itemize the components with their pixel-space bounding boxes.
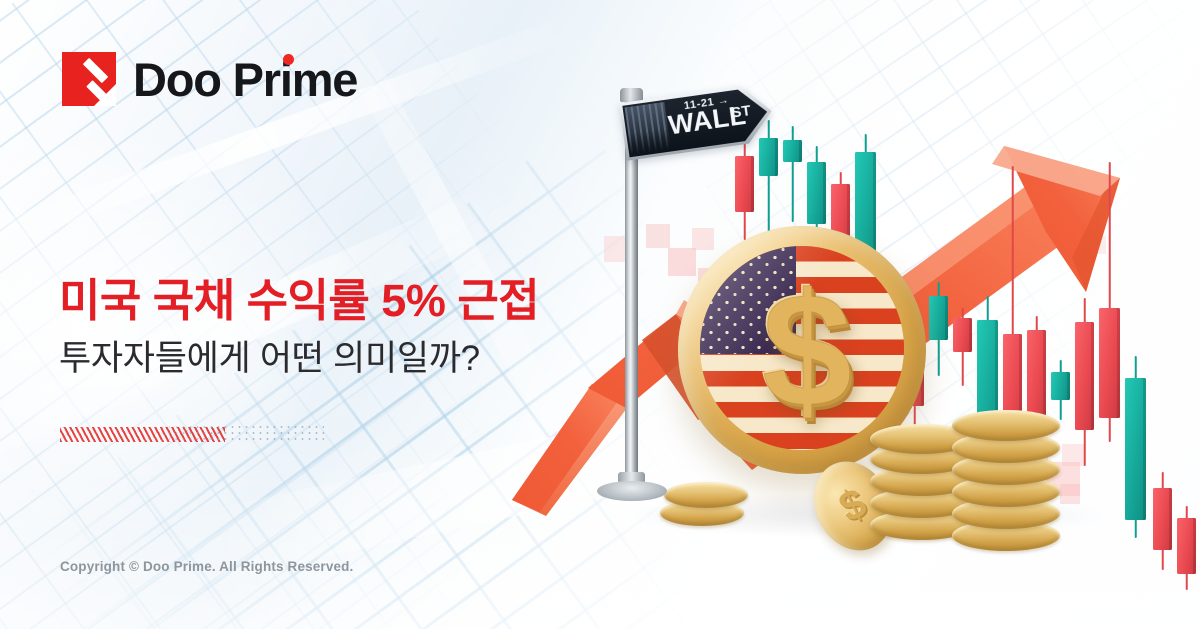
doo-prime-mark-icon [62,52,116,106]
candle [929,282,948,376]
candle [1099,162,1120,442]
candle [783,126,802,222]
candle [1051,360,1070,420]
candle [1153,472,1172,570]
decorative-divider [60,424,322,444]
signpost-base [597,481,667,501]
coin-disc [664,482,748,508]
divider-dots [138,424,324,443]
candle [735,142,754,240]
promo-banner: Doo Prime [0,0,1201,629]
copyright-notice: Copyright © Doo Prime. All Rights Reserv… [60,559,353,574]
sign-building-graphic [625,102,671,155]
headline-secondary: 투자자들에게 어떤 의미일까? [59,338,679,380]
mark-slash-upper [83,58,108,83]
dollar-symbol-icon: $ [762,270,852,432]
brand-logo[interactable]: Doo Prime [62,52,357,106]
candle [1125,356,1146,538]
candle [1075,298,1094,466]
brand-dot-icon [283,54,294,65]
sign-street-suffix: ST [730,102,752,122]
headline-block: 미국 국채 수익률 5% 근접 투자자들에게 어떤 의미일까? [59,276,679,380]
candle [953,308,972,386]
brand-name-text: Doo Prime [133,53,357,106]
brand-name: Doo Prime [133,56,357,103]
candle [1177,506,1196,590]
coin-disc [952,410,1060,441]
headline-primary: 미국 국채 수익률 5% 근접 [59,276,679,326]
